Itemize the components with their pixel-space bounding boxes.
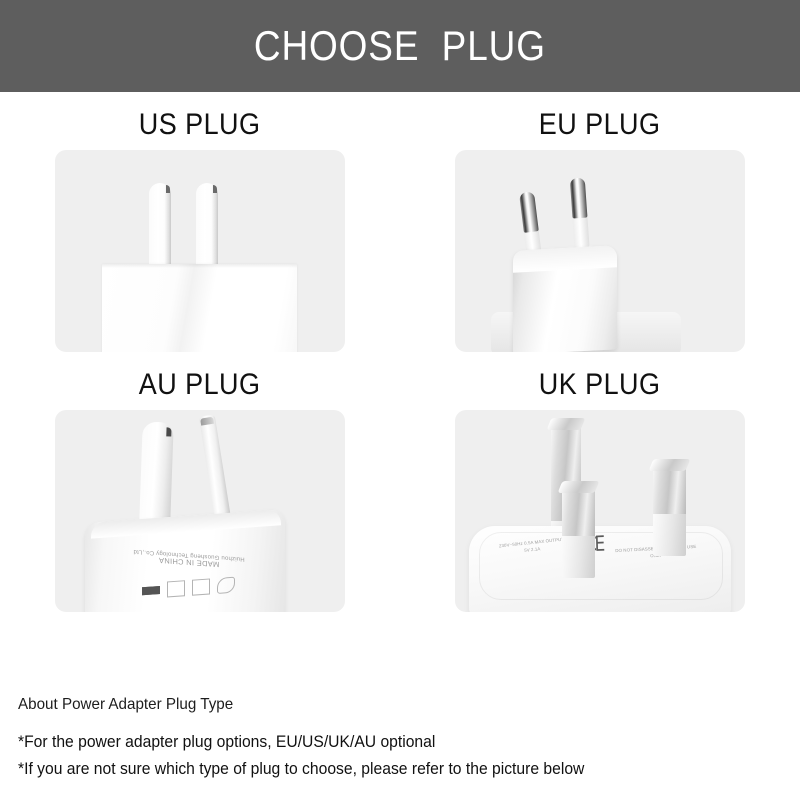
plug-option-au[interactable]: AU PLUG MADE IN CHINA Huizhou Guosheng T…: [0, 352, 400, 612]
plug-image-au[interactable]: MADE IN CHINA Huizhou Guosheng Technolog…: [55, 410, 345, 612]
eu-pin-right-icon: [570, 178, 590, 245]
footer-notes: About Power Adapter Plug Type *For the p…: [0, 697, 800, 782]
plug-title-eu: EU PLUG: [539, 110, 661, 140]
page-title: CHOOSE PLUG: [254, 25, 546, 67]
plug-image-eu[interactable]: [455, 150, 745, 352]
uk-live-pin-icon: [562, 488, 595, 578]
us-prong-right-icon: [196, 183, 218, 269]
plug-row-top: US PLUG EU PLUG: [0, 92, 800, 352]
footer-heading: About Power Adapter Plug Type: [18, 697, 761, 713]
plug-image-uk[interactable]: CE 230V~50Hz 0.5A MAX OUTPUT 5V 2.1A DO …: [455, 410, 745, 612]
footer-note-refer: *If you are not sure which type of plug …: [18, 756, 761, 783]
plug-row-bottom: AU PLUG MADE IN CHINA Huizhou Guosheng T…: [0, 352, 800, 612]
page-header: CHOOSE PLUG: [0, 0, 800, 92]
au-raa-mark-icon: [217, 577, 235, 594]
eu-adapter-body: [513, 245, 617, 352]
plug-image-us[interactable]: [55, 150, 345, 352]
plug-option-uk[interactable]: UK PLUG CE 230V~50Hz 0.5A MAX OUTPUT 5V …: [400, 352, 800, 612]
us-adapter-body: [102, 264, 297, 352]
plug-title-au: AU PLUG: [139, 370, 261, 400]
au-square-icon: [167, 580, 185, 597]
plug-title-us: US PLUG: [139, 110, 261, 140]
us-prong-left-icon: [149, 183, 171, 269]
plug-option-us[interactable]: US PLUG: [0, 92, 400, 352]
plug-title-uk: UK PLUG: [539, 370, 661, 400]
uk-neutral-pin-icon: [653, 466, 686, 556]
au-bar-icon: [142, 586, 160, 595]
plug-options-grid: US PLUG EU PLUG: [0, 92, 800, 612]
au-adapter-body: [85, 509, 285, 612]
footer-note-options: *For the power adapter plug options, EU/…: [18, 729, 761, 756]
au-prong-left-icon: [139, 421, 173, 522]
au-prong-right-icon: [199, 414, 231, 521]
plug-option-eu[interactable]: EU PLUG: [400, 92, 800, 352]
au-square2-icon: [192, 578, 210, 595]
